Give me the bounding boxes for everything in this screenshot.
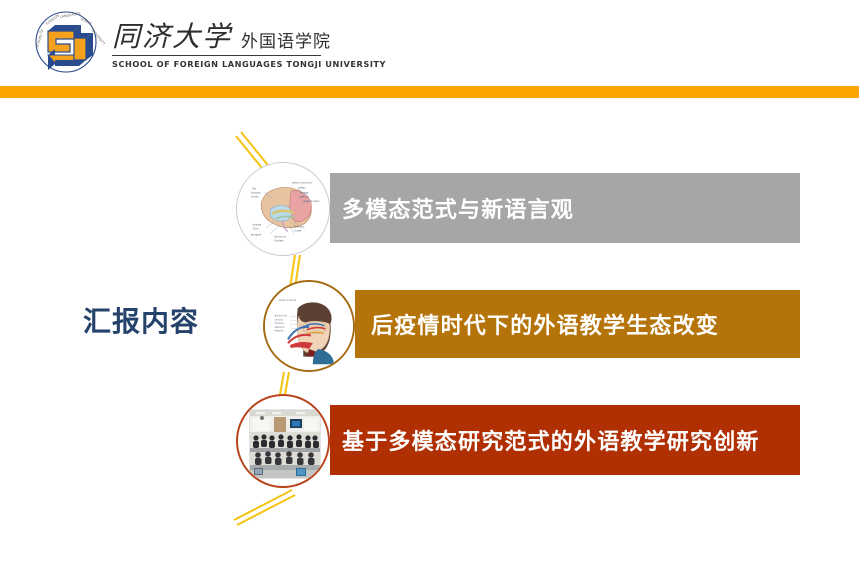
svg-text:Lonuris: Lonuris [275, 318, 284, 321]
agenda-label-1: 多模态范式与新语言观 [342, 192, 574, 224]
agenda-thumb-2[interactable]: aullat ua Tarato Bonito mia Lonuris Cort… [263, 280, 355, 372]
svg-text:Tearitiny: Tearitiny [294, 225, 305, 229]
logo-wordmark: 同济大学 外国语学院 SCHOOL OF FOREIGN LANGUAGES T… [112, 18, 432, 69]
agenda-thumb-3[interactable] [236, 394, 330, 488]
svg-text:Bonito mia: Bonito mia [275, 314, 288, 317]
classroom-photo-icon [249, 409, 321, 479]
svg-text:balleno: balleno [300, 194, 310, 198]
svg-text:Sectonuo: Sectonuo [274, 234, 286, 238]
agenda-thumb-1[interactable]: Ba Longuto cortex saluto insulinoa corte… [236, 162, 330, 256]
header-accent-bar [0, 86, 859, 98]
svg-text:Sumaz: Sumaz [300, 190, 309, 194]
svg-text:Cifio: Cifio [253, 227, 259, 231]
agenda-bar-3[interactable]: 基于多模态研究范式的外语教学研究创新 [330, 405, 800, 475]
agenda-label-3: 基于多模态研究范式的外语教学研究创新 [342, 424, 760, 456]
brain-anatomy-diagram-icon: Ba Longuto cortex saluto insulinoa corte… [237, 163, 329, 255]
svg-text:Longuto: Longuto [251, 190, 262, 194]
school-name-cn: 外国语学院 [241, 33, 331, 52]
agenda-bar-2[interactable]: 后疫情时代下的外语教学生态改变 [355, 290, 800, 358]
school-name-en: SCHOOL OF FOREIGN LANGUAGES TONGJI UNIVE… [112, 59, 432, 69]
svg-text:Ragoniontao: Ragoniontao [304, 199, 320, 203]
svg-text:temparli: temparli [251, 232, 262, 236]
slide-header: SCHOOL OF FOREIGN LANGUAGES TONGJI UNIVE… [0, 0, 859, 86]
agenda-label-2: 后疫情时代下的外语教学生态改变 [371, 308, 719, 340]
svg-text:aullat ua Tarato: aullat ua Tarato [278, 299, 296, 302]
svg-text:Selsomo: Selsomo [275, 326, 285, 329]
svg-text:TONGJI: TONGJI [79, 17, 92, 26]
sfl-monogram-logo-icon: SCHOOL OF FOREIGN LANGUAGES TONGJI UNIVE… [24, 8, 108, 76]
svg-text:OF: OF [39, 28, 45, 34]
svg-text:cortex: cortex [251, 194, 259, 198]
logo-divider [112, 55, 321, 56]
svg-text:ocnas: ocnas [294, 230, 302, 233]
svg-text:cortex: cortex [298, 185, 306, 189]
head-anatomy-diagram-icon: aullat ua Tarato Bonito mia Lonuris Cort… [265, 282, 353, 370]
university-name-cn: 同济大学 [112, 24, 232, 52]
agenda-bar-1[interactable]: 多模态范式与新语言观 [330, 173, 800, 243]
svg-text:Ba: Ba [253, 186, 257, 190]
svg-text:Cortena: Cortena [275, 322, 285, 325]
svg-text:saluto insulinoa: saluto insulinoa [292, 181, 312, 185]
page-title: 汇报内容 [83, 300, 199, 340]
svg-text:Matoria: Matoria [275, 330, 284, 333]
svg-text:Ulvilaja: Ulvilaja [274, 238, 284, 242]
svg-text:brisala: brisala [253, 223, 262, 227]
